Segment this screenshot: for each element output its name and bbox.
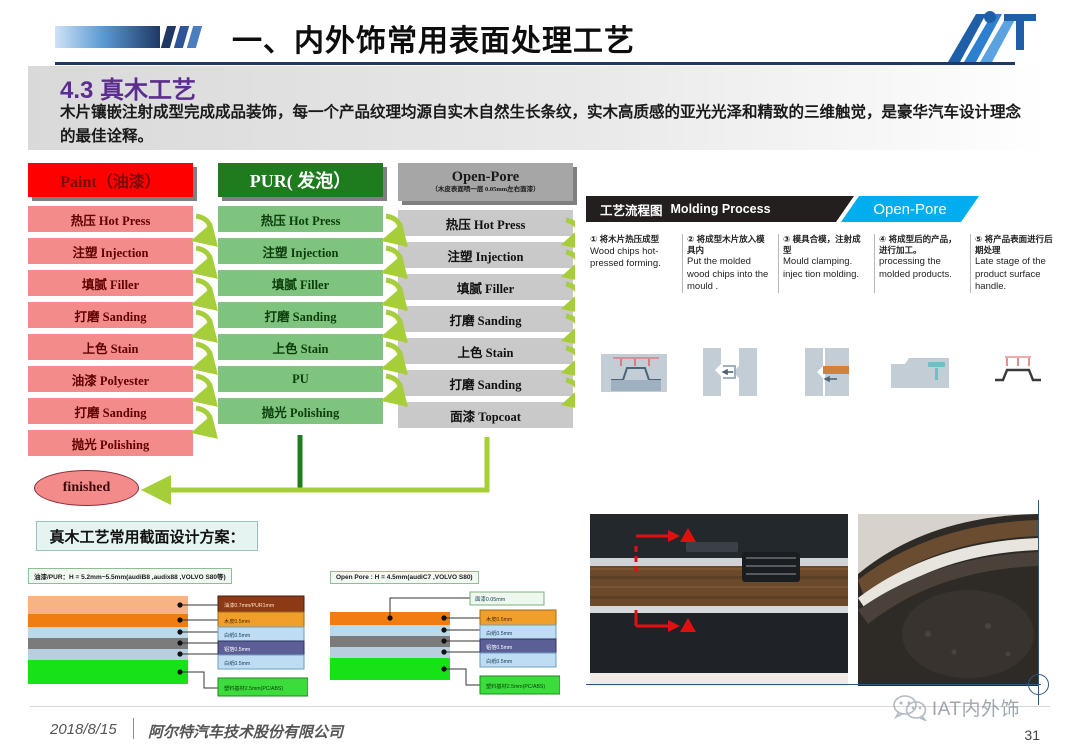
molding-step-number: ② <box>687 234 694 244</box>
flow-step: 填腻 Filler <box>28 270 193 296</box>
slide-header: 一、内外饰常用表面处理工艺 <box>0 0 1080 68</box>
wechat-icon <box>893 695 927 721</box>
flow-step: 油漆 Polyester <box>28 366 193 392</box>
molding-step-number: ④ <box>879 234 886 244</box>
molding-step: ④ 将成型后的产品，进行加工。 processing the molded pr… <box>874 234 970 293</box>
molding-ribbon-tag: Open-Pore <box>841 196 979 222</box>
molding-step-cn: ③ 模具合模，注射成型 <box>783 234 868 255</box>
cross-section-layer-label: 白纸0.5mm <box>224 631 250 639</box>
molding-ribbon-en: Molding Process <box>671 202 771 216</box>
photo-row <box>590 514 1040 686</box>
footer-company: 阿尔特汽车技术股份有限公司 <box>148 721 343 742</box>
molding-step-number: ⑤ <box>975 234 982 244</box>
slide: 一、内外饰常用表面处理工艺 4.3 真木工艺 木片镶嵌注射成型完成成品装饰，每一… <box>0 0 1080 754</box>
flow-column-open-pore: Open-Pore （木皮表面喷一层 0.05mm左右面漆） 热压 Hot Pr… <box>398 163 573 434</box>
molding-step-en: processing the molded products. <box>879 256 964 281</box>
molding-step: ② 将成型木片放入模具内 Put the molded wood chips i… <box>682 234 778 293</box>
cross-section-layer-label: 木皮0.5mm <box>486 615 512 623</box>
page-title: 一、内外饰常用表面处理工艺 <box>232 16 635 60</box>
flow-step: 注塑 Injection <box>28 238 193 264</box>
molding-step-cn-text: 将木片热压成型 <box>600 234 660 244</box>
header-divider <box>55 62 1015 65</box>
molding-step: ③ 模具合模，注射成型 Mould clamping. injec tion m… <box>778 234 874 293</box>
cross-section-callout-b: 面漆0.05mm <box>475 595 506 603</box>
molding-figure-surface <box>970 346 1066 426</box>
photo-trim-edge-closeup <box>858 514 1038 686</box>
flow-header-pur: PUR( 发泡） <box>218 163 383 197</box>
flow-step: 注塑 Injection <box>218 238 383 264</box>
section-heading: 4.3 真木工艺 <box>60 70 196 105</box>
cross-section-layer-label: 木皮0.5mm <box>224 617 250 625</box>
cross-section-layer-label: 塑料基材2.5mm(PC/ABS) <box>224 684 283 692</box>
molding-step-list: ① 将木片热压成型 Wood chips hot-pressed forming… <box>586 234 1066 293</box>
molding-step-en: Wood chips hot-pressed forming. <box>590 246 676 271</box>
flow-step: 面漆 Topcoat <box>398 402 573 428</box>
decor-corner-circle <box>1028 674 1049 695</box>
molding-step-cn: ④ 将成型后的产品，进行加工。 <box>879 234 964 255</box>
decor-corner-horizontal <box>586 684 1041 685</box>
molding-step-cn: ① 将木片热压成型 <box>590 234 676 245</box>
molding-step-en: Put the molded wood chips into the mould… <box>687 256 772 293</box>
slash-bar-icon-3 <box>187 26 202 48</box>
molding-step-en: Mould clamping. injec tion molding. <box>783 256 868 281</box>
flow-step: 抛光 Polishing <box>218 398 383 424</box>
molding-step-cn-text: 将成型木片放入模具内 <box>687 234 765 255</box>
flow-step: 打磨 Sanding <box>398 370 573 396</box>
cross-section-title: 真木工艺常用截面设计方案： <box>36 521 258 551</box>
molding-ribbon: 工艺流程图 Molding Process Open-Pore <box>586 196 978 222</box>
flow-step: 打磨 Sanding <box>28 398 193 424</box>
flow-step: 上色 Stain <box>398 338 573 364</box>
molding-step-number: ③ <box>783 234 790 244</box>
molding-step-en: Late stage of the product surface handle… <box>975 256 1060 293</box>
page-number: 31 <box>1024 727 1040 743</box>
molding-step: ⑤ 将产品表面进行后期处理 Late stage of the product … <box>970 234 1066 293</box>
cross-section-layer-label: 铝箔0.5mm <box>224 645 250 653</box>
flow-step: 打磨 Sanding <box>28 302 193 328</box>
photo-dashboard-wood-trim <box>590 514 848 686</box>
molding-figure-clamping <box>778 346 874 426</box>
cross-section-layer-label: 白纸0.5mm <box>224 659 250 667</box>
flow-step: 热压 Hot Press <box>218 206 383 232</box>
cross-section-diagram-a: 油漆/PUR：H = 5.2mm~5.5mm(audiB8 ,audix88 ,… <box>28 566 308 701</box>
flow-step: PU <box>218 366 383 392</box>
cross-section-layer-label: 油漆0.7mm/PUR1mm <box>224 601 274 609</box>
flow-header-open-pore-title: Open-Pore <box>452 170 519 185</box>
flow-step: 打磨 Sanding <box>398 306 573 332</box>
flow-header-paint: Paint（油漆） <box>28 163 193 197</box>
flow-step: 热压 Hot Press <box>398 210 573 236</box>
process-flow-diagram: Paint（油漆） 热压 Hot Press 注塑 Injection 填腻 F… <box>0 163 575 518</box>
wechat-watermark: IAT内外饰 <box>893 694 1020 721</box>
flow-step: 上色 Stain <box>218 334 383 360</box>
molding-ribbon-cn: 工艺流程图 <box>600 200 663 219</box>
cross-section-layer-label: 白纸0.5mm <box>486 629 512 637</box>
flow-header-open-pore-subtitle: （木皮表面喷一层 0.05mm左右面漆） <box>431 187 539 194</box>
molding-step-cn-text: 将产品表面进行后期处理 <box>975 234 1053 255</box>
molding-figure-row <box>586 346 1066 426</box>
molding-step-cn-text: 模具合模，注射成型 <box>783 234 861 255</box>
section-description: 木片镶嵌注射成型完成成品装饰，每一个产品纹理均源自实木自然生长条纹，实木高质感的… <box>60 101 1035 149</box>
flow-step: 上色 Stain <box>28 334 193 360</box>
footer-separator <box>133 718 134 739</box>
flow-step: 抛光 Polishing <box>28 430 193 456</box>
flow-step: 热压 Hot Press <box>28 206 193 232</box>
flow-column-pur: PUR( 发泡） 热压 Hot Press 注塑 Injection 填腻 Fi… <box>218 163 383 430</box>
molding-step: ① 将木片热压成型 Wood chips hot-pressed forming… <box>586 234 682 293</box>
molding-ribbon-label: 工艺流程图 Molding Process <box>586 196 854 222</box>
header-accent-bars <box>55 24 199 50</box>
flow-step: 填腻 Filler <box>218 270 383 296</box>
molding-figure-hotpress <box>586 346 682 426</box>
flow-step: 填腻 Filler <box>398 274 573 300</box>
footer-date: 2018/8/15 <box>50 721 117 738</box>
flow-column-paint: Paint（油漆） 热压 Hot Press 注塑 Injection 填腻 F… <box>28 163 193 462</box>
flow-step: 注塑 Injection <box>398 242 573 268</box>
molding-step-cn: ② 将成型木片放入模具内 <box>687 234 772 255</box>
molding-step-cn-text: 将成型后的产品，进行加工。 <box>879 234 957 255</box>
molding-process-panel: 工艺流程图 Molding Process Open-Pore ① 将木片热压成… <box>586 196 1066 456</box>
cross-section-diagram-b: Open Pore : H = 4.5mm(audiC7 ,VOLVO S80)… <box>330 566 560 701</box>
cross-section-caption-a: 油漆/PUR：H = 5.2mm~5.5mm(audiB8 ,audix88 ,… <box>28 568 232 584</box>
molding-figure-processing <box>874 346 970 426</box>
cross-section-layer-label: 铝箔0.5mm <box>486 643 512 651</box>
cross-section-caption-b: Open Pore : H = 4.5mm(audiC7 ,VOLVO S80) <box>330 571 479 584</box>
watermark-text: IAT内外饰 <box>932 694 1020 721</box>
flow-terminal-finished: finished <box>34 470 139 506</box>
flow-step: 打磨 Sanding <box>218 302 383 328</box>
flow-header-open-pore: Open-Pore （木皮表面喷一层 0.05mm左右面漆） <box>398 163 573 201</box>
molding-step-cn: ⑤ 将产品表面进行后期处理 <box>975 234 1060 255</box>
cross-section-layer-label: 白纸0.5mm <box>486 657 512 665</box>
molding-step-number: ① <box>590 234 597 244</box>
iat-logo-icon <box>930 10 1048 64</box>
gradient-bar-icon <box>55 26 160 48</box>
cross-section-layer-label: 塑料基材2.5mm(PC/ABS) <box>486 682 545 690</box>
molding-figure-insert <box>682 346 778 426</box>
